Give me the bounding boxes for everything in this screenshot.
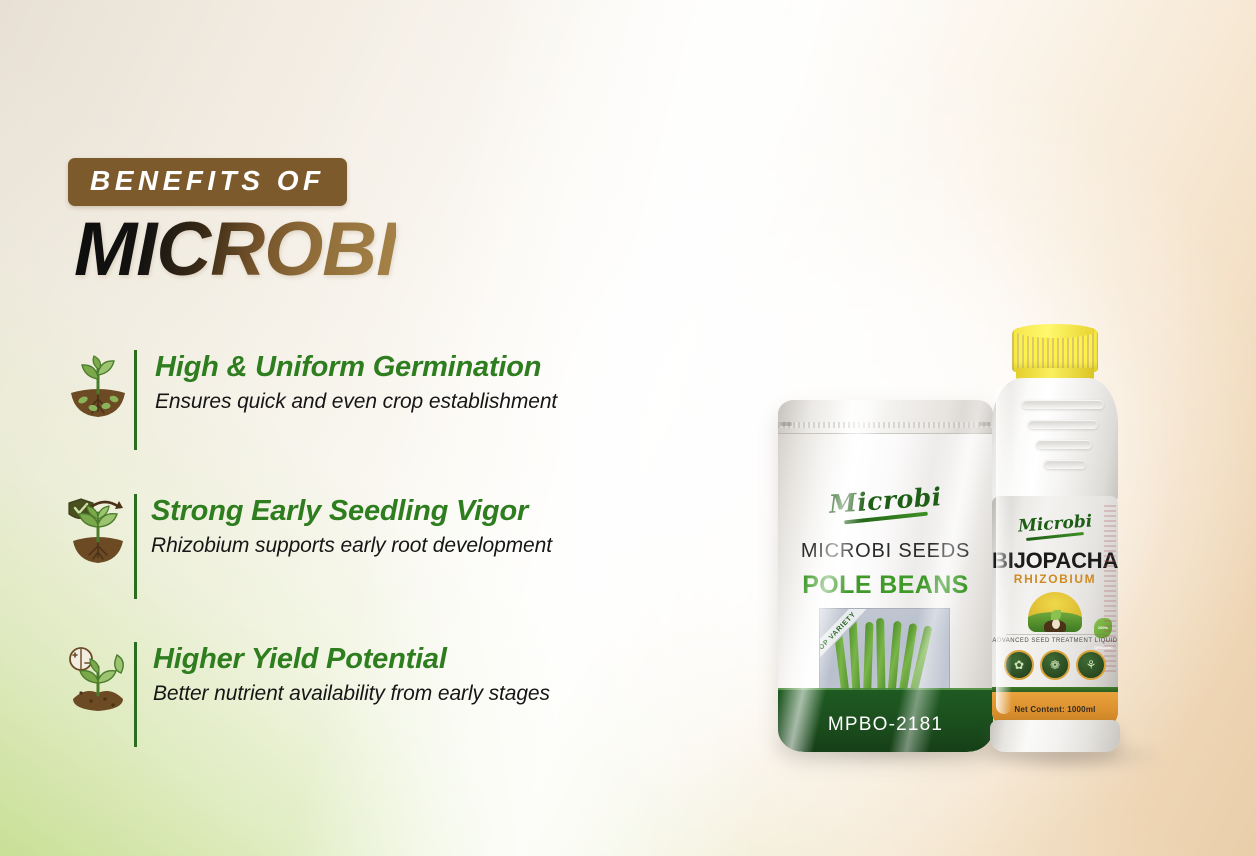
benefit-item: High & Uniform Germination Ensures quick… bbox=[62, 348, 682, 460]
bottle-cap-top bbox=[1015, 324, 1095, 338]
page-title: MICROBI bbox=[74, 212, 396, 288]
bottle-feature-badges: ✿ ❁ ⚘ bbox=[1004, 648, 1106, 682]
bottle-brand-logo: Microbi bbox=[992, 514, 1118, 538]
bottle-base bbox=[990, 720, 1120, 752]
feature-badge-icon: ⚘ bbox=[1076, 650, 1106, 680]
bottle-rib bbox=[1022, 400, 1104, 409]
bottle-rib bbox=[1044, 460, 1086, 469]
feature-badge-icon: ✿ bbox=[1004, 650, 1034, 680]
packet-top-seal bbox=[778, 400, 993, 434]
bottle-rib bbox=[1036, 440, 1092, 449]
benefit-text-block: Higher Yield Potential Better nutrient a… bbox=[137, 640, 550, 707]
packet-tear-notch-left bbox=[780, 422, 792, 426]
benefit-item: Higher Yield Potential Better nutrient a… bbox=[62, 640, 682, 752]
benefits-of-label: BENEFITS OF bbox=[90, 167, 325, 195]
emblem-sprout bbox=[1051, 610, 1061, 620]
bottle-rib bbox=[1028, 420, 1098, 429]
benefit-title: Higher Yield Potential bbox=[153, 642, 550, 676]
benefits-of-badge: BENEFITS OF bbox=[68, 158, 347, 206]
benefit-title: Strong Early Seedling Vigor bbox=[151, 494, 552, 528]
packet-zip-seal bbox=[778, 422, 993, 428]
benefit-subtitle: Better nutrient availability from early … bbox=[153, 681, 550, 707]
benefit-subtitle: Rhizobium supports early root developmen… bbox=[151, 533, 552, 559]
seedling-in-soil-icon bbox=[62, 350, 134, 426]
benefit-item: Strong Early Seedling Vigor Rhizobium su… bbox=[62, 492, 682, 604]
packet-seeds-label: MICROBI SEEDS bbox=[778, 540, 993, 563]
nutrient-yield-plant-icon bbox=[62, 642, 134, 718]
benefit-title: High & Uniform Germination bbox=[155, 350, 557, 384]
bijopachar-bottle-product: Microbi BIJOPACHAR RHIZOBIUM 100% ORGANI… bbox=[982, 328, 1128, 752]
emblem-seed bbox=[1052, 619, 1060, 629]
bottle-body: Microbi BIJOPACHAR RHIZOBIUM 100% ORGANI… bbox=[992, 496, 1118, 728]
packet-variety-code: MPBO-2181 bbox=[778, 714, 993, 736]
benefit-subtitle: Ensures quick and even crop establishmen… bbox=[155, 389, 557, 415]
benefits-panel: BENEFITS OF MICROBI High & Uniform Germi… bbox=[0, 0, 700, 856]
bottle-product-name: BIJOPACHAR bbox=[992, 548, 1118, 574]
bottle-tagline-rule bbox=[1006, 634, 1104, 635]
product-showcase: Microbi MICROBI SEEDS POLE BEANS OP VARI… bbox=[700, 300, 1256, 856]
benefit-text-block: Strong Early Seedling Vigor Rhizobium su… bbox=[137, 492, 552, 559]
bottle-tagline: ADVANCED SEED TREATMENT LIQUID bbox=[992, 638, 1118, 644]
feature-badge-icon: ❁ bbox=[1040, 650, 1070, 680]
shield-plant-growth-icon bbox=[62, 494, 134, 570]
packet-brand-logo: Microbi bbox=[778, 486, 993, 520]
bottle-side-text-block bbox=[1104, 502, 1116, 672]
bottle-net-content: Net Content: 1000ml bbox=[992, 705, 1118, 714]
bottle-product-strain: RHIZOBIUM bbox=[992, 572, 1118, 586]
packet-product-label: POLE BEANS bbox=[778, 571, 993, 600]
seed-packet-product: Microbi MICROBI SEEDS POLE BEANS OP VARI… bbox=[778, 400, 993, 752]
benefit-text-block: High & Uniform Germination Ensures quick… bbox=[137, 348, 557, 415]
bottle-shoulder bbox=[992, 378, 1118, 504]
